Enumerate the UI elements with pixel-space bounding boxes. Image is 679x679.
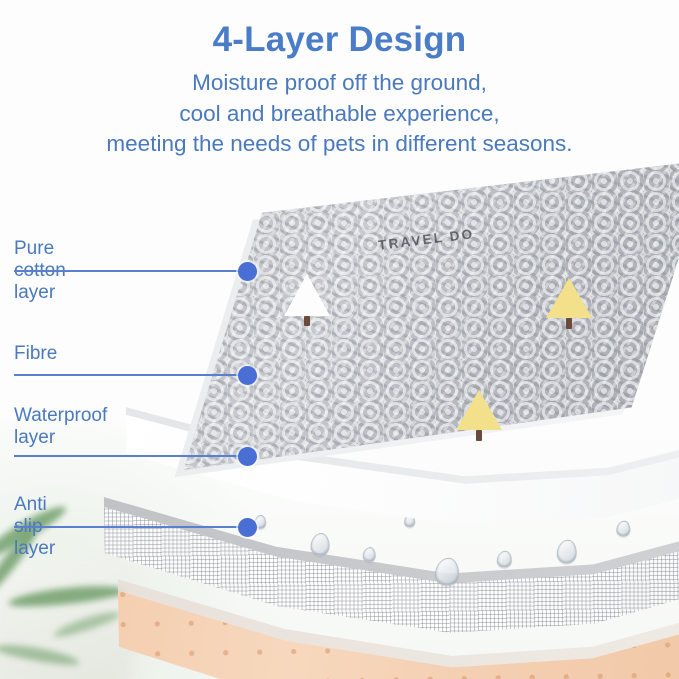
callout-leader-line <box>14 455 246 457</box>
tree-trunk <box>476 430 482 441</box>
tree-trunk <box>566 318 572 329</box>
tree-canopy <box>284 274 330 316</box>
callout-leader-line <box>14 270 246 272</box>
layer-stack-illustration: TRAVEL DO <box>0 0 679 679</box>
callout-label: Waterproof layer <box>14 405 107 449</box>
callout-leader-line <box>14 374 246 376</box>
layer-pure-cotton: TRAVEL DO <box>150 150 679 480</box>
callout-dot <box>238 518 257 537</box>
callout-dot <box>238 447 257 466</box>
tree-yellow-lower-icon <box>456 390 502 430</box>
tree-canopy <box>456 390 502 430</box>
callout-label: Fibre <box>14 343 57 365</box>
tree-canopy <box>546 278 592 318</box>
callout-leader-line <box>14 526 246 528</box>
tree-yellow-upper-icon <box>546 278 592 318</box>
tree-trunk <box>304 316 310 326</box>
callout-dot <box>238 262 257 281</box>
infographic-canvas: 4-Layer Design Moisture proof off the gr… <box>0 0 679 679</box>
callout-dot <box>238 366 257 385</box>
